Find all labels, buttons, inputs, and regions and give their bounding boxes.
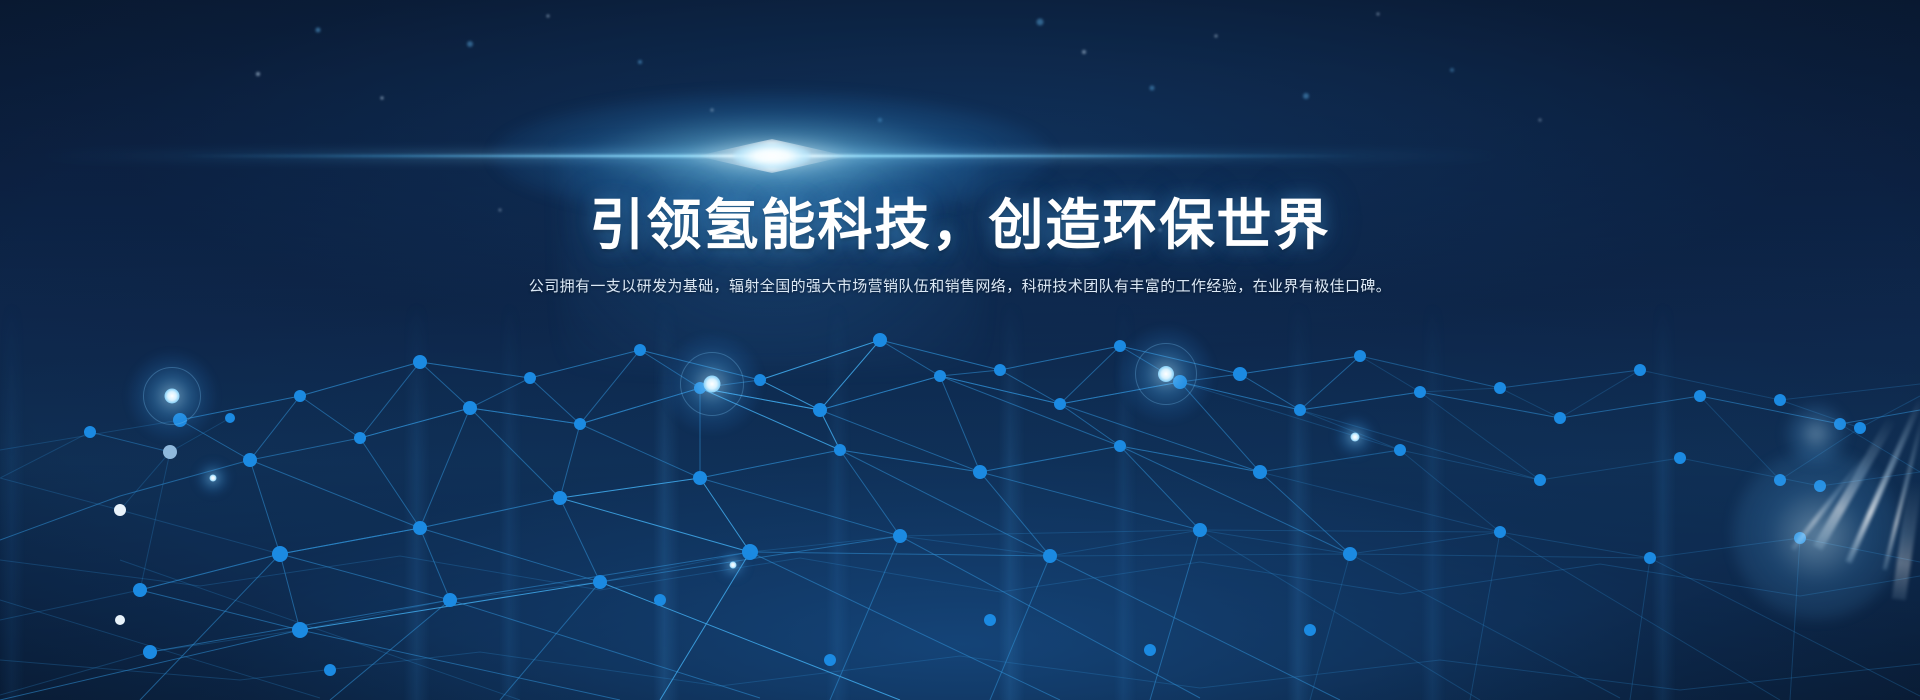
hero-text-block: 引领氢能科技，创造环保世界 公司拥有一支以研发为基础，辐射全国的强大市场营销队伍… bbox=[0, 196, 1920, 299]
hero-banner: 引领氢能科技，创造环保世界 公司拥有一支以研发为基础，辐射全国的强大市场营销队伍… bbox=[0, 0, 1920, 700]
page-title: 引领氢能科技，创造环保世界 bbox=[0, 196, 1920, 255]
hero-subtitle: 公司拥有一支以研发为基础，辐射全国的强大市场营销队伍和销售网络，科研技术团队有丰… bbox=[0, 275, 1920, 299]
background-gradient bbox=[0, 0, 1920, 700]
